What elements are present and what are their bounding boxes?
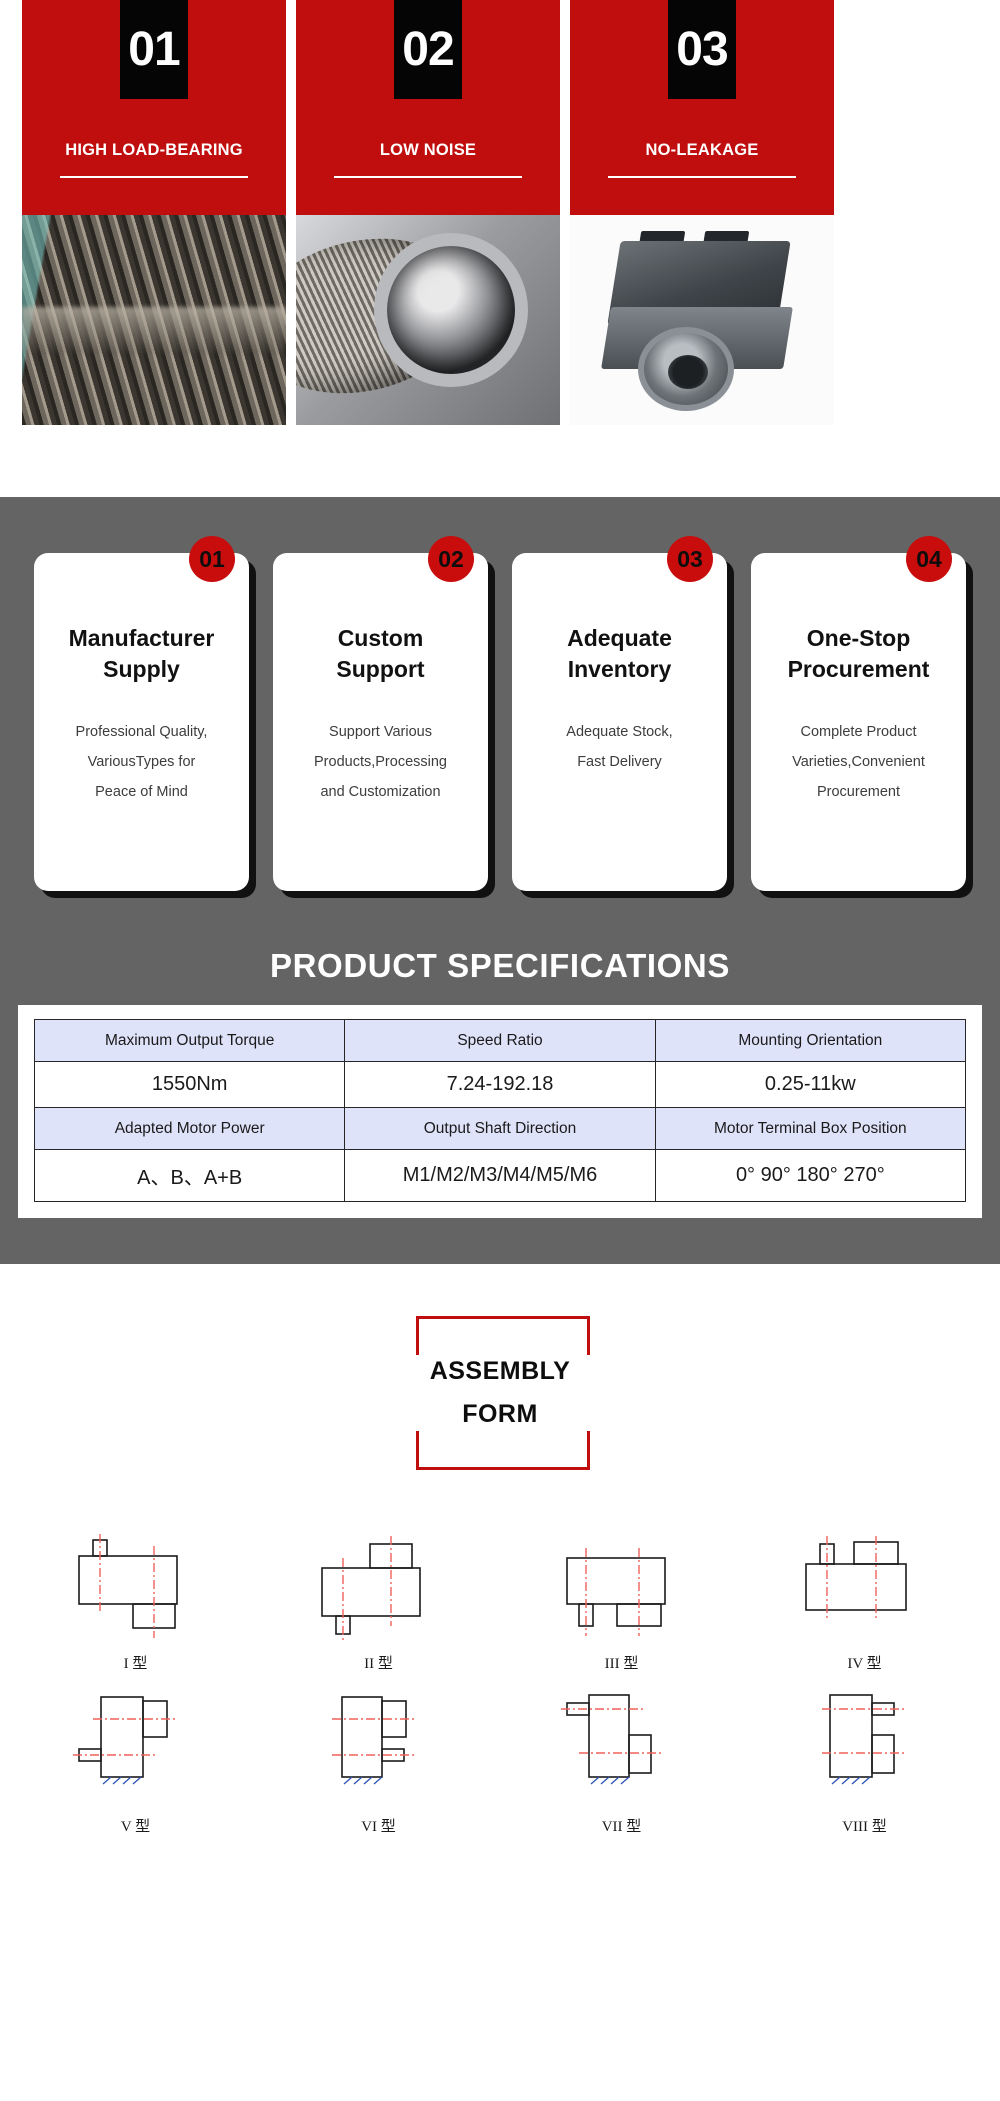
helical-gear-shafts-photo bbox=[22, 215, 286, 425]
table-value-cell: M1/M2/M3/M4/M5/M6 bbox=[345, 1150, 655, 1202]
assembly-form-8-drawing bbox=[780, 1691, 950, 1811]
table-row: A、B、A+B M1/M2/M3/M4/M5/M6 0° 90° 180° 27… bbox=[35, 1150, 966, 1202]
assembly-form-4: IV 型 bbox=[743, 1528, 986, 1673]
assembly-form-3: III 型 bbox=[500, 1528, 743, 1673]
advantage-badge: 04 bbox=[906, 536, 952, 582]
feature-banner-header: 01 HIGH LOAD-BEARING bbox=[22, 0, 286, 215]
assembly-heading-line-2: FORM bbox=[416, 1393, 584, 1436]
advantage-description: Professional Quality, VariousTypes for P… bbox=[50, 718, 233, 807]
assembly-form-label: I 型 bbox=[124, 1652, 148, 1673]
gearbox-hub bbox=[668, 355, 708, 389]
assembly-form-section: ASSEMBLY FORM I 型 bbox=[0, 1264, 1000, 1866]
feature-banner-number: 03 bbox=[668, 0, 736, 99]
divider-rule bbox=[334, 176, 522, 178]
gearbox-unit-photo bbox=[570, 215, 834, 425]
table-value-cell: 7.24-192.18 bbox=[345, 1062, 655, 1108]
specifications-heading: PRODUCT SPECIFICATIONS bbox=[0, 947, 1000, 985]
ground-hatch-icon bbox=[103, 1777, 141, 1784]
assembly-form-label: V 型 bbox=[121, 1815, 150, 1836]
feature-banner: 01 HIGH LOAD-BEARING bbox=[22, 0, 286, 425]
feature-banner-header: 03 NO-LEAKAGE bbox=[570, 0, 834, 215]
advantage-badge: 01 bbox=[189, 536, 235, 582]
advantage-title: One-Stop Procurement bbox=[767, 623, 950, 684]
assembly-form-3-drawing bbox=[537, 1528, 707, 1648]
assembly-form-heading-badge: ASSEMBLY FORM bbox=[416, 1316, 584, 1470]
feature-banner-title: NO-LEAKAGE bbox=[646, 141, 759, 160]
advantage-title: Custom Support bbox=[289, 623, 472, 684]
divider-rule bbox=[60, 176, 248, 178]
table-value-cell: 0.25-11kw bbox=[655, 1062, 965, 1108]
assembly-form-label: III 型 bbox=[605, 1652, 639, 1673]
assembly-form-2-drawing bbox=[294, 1528, 464, 1648]
assembly-form-6-drawing bbox=[294, 1691, 464, 1811]
assembly-diagram-grid: I 型 II 型 bbox=[0, 1528, 1000, 1836]
table-value-cell: 0° 90° 180° 270° bbox=[655, 1150, 965, 1202]
assembly-form-4-drawing bbox=[780, 1528, 950, 1648]
advantage-badge: 02 bbox=[428, 536, 474, 582]
advantage-description: Adequate Stock, Fast Delivery bbox=[528, 718, 711, 777]
product-detail-page: 01 HIGH LOAD-BEARING 02 LOW NOISE 03 NO-… bbox=[0, 0, 1000, 1866]
divider-rule bbox=[608, 176, 796, 178]
bearing-rings-photo bbox=[296, 215, 560, 425]
specifications-table: Maximum Output Torque Speed Ratio Mounti… bbox=[34, 1019, 966, 1202]
assembly-form-7-drawing bbox=[537, 1691, 707, 1811]
advantage-title: Adequate Inventory bbox=[528, 623, 711, 684]
assembly-form-7: VII 型 bbox=[500, 1691, 743, 1836]
assembly-form-label: VII 型 bbox=[602, 1815, 642, 1836]
specifications-table-frame: Maximum Output Torque Speed Ratio Mounti… bbox=[18, 1005, 982, 1218]
assembly-form-label: VI 型 bbox=[361, 1815, 396, 1836]
ground-hatch-icon bbox=[591, 1777, 629, 1784]
feature-banner-title: HIGH LOAD-BEARING bbox=[65, 141, 243, 160]
table-header-cell: Adapted Motor Power bbox=[35, 1108, 345, 1150]
feature-banner-number: 01 bbox=[120, 0, 188, 99]
assembly-form-2: II 型 bbox=[257, 1528, 500, 1673]
advantage-card: 03 Adequate Inventory Adequate Stock, Fa… bbox=[512, 553, 727, 891]
table-header-cell: Maximum Output Torque bbox=[35, 1020, 345, 1062]
assembly-form-label: VIII 型 bbox=[842, 1815, 887, 1836]
advantage-title: Manufacturer Supply bbox=[50, 623, 233, 684]
table-header-cell: Speed Ratio bbox=[345, 1020, 655, 1062]
table-row: 1550Nm 7.24-192.18 0.25-11kw bbox=[35, 1062, 966, 1108]
table-row: Adapted Motor Power Output Shaft Directi… bbox=[35, 1108, 966, 1150]
advantage-card-row: 01 Manufacturer Supply Professional Qual… bbox=[0, 553, 1000, 891]
feature-banner-header: 02 LOW NOISE bbox=[296, 0, 560, 215]
assembly-form-1: I 型 bbox=[14, 1528, 257, 1673]
advantage-card: 02 Custom Support Support Various Produc… bbox=[273, 553, 488, 891]
assembly-form-5-drawing bbox=[51, 1691, 221, 1811]
advantage-card: 01 Manufacturer Supply Professional Qual… bbox=[34, 553, 249, 891]
table-header-cell: Motor Terminal Box Position bbox=[655, 1108, 965, 1150]
assembly-form-label: II 型 bbox=[364, 1652, 393, 1673]
assembly-form-8: VIII 型 bbox=[743, 1691, 986, 1836]
specifications-section: PRODUCT SPECIFICATIONS Maximum Output To… bbox=[0, 891, 1000, 1264]
table-value-cell: A、B、A+B bbox=[35, 1150, 345, 1202]
assembly-form-1-drawing bbox=[51, 1528, 221, 1648]
table-header-cell: Mounting Orientation bbox=[655, 1020, 965, 1062]
advantage-description: Complete Product Varieties,Convenient Pr… bbox=[767, 718, 950, 807]
table-row: Maximum Output Torque Speed Ratio Mounti… bbox=[35, 1020, 966, 1062]
feature-banner: 02 LOW NOISE bbox=[296, 0, 560, 425]
feature-banner-number: 02 bbox=[394, 0, 462, 99]
table-value-cell: 1550Nm bbox=[35, 1062, 345, 1108]
assembly-form-label: IV 型 bbox=[847, 1652, 881, 1673]
assembly-form-5: V 型 bbox=[14, 1691, 257, 1836]
ground-hatch-icon bbox=[344, 1777, 382, 1784]
advantage-card: 04 One-Stop Procurement Complete Product… bbox=[751, 553, 966, 891]
ground-hatch-icon bbox=[832, 1777, 870, 1784]
advantage-badge: 03 bbox=[667, 536, 713, 582]
feature-banner-title: LOW NOISE bbox=[380, 141, 476, 160]
advantage-description: Support Various Products,Processing and … bbox=[289, 718, 472, 807]
feature-banner-section: 01 HIGH LOAD-BEARING 02 LOW NOISE 03 NO-… bbox=[0, 0, 1000, 497]
assembly-form-6: VI 型 bbox=[257, 1691, 500, 1836]
assembly-heading-line-1: ASSEMBLY bbox=[416, 1350, 584, 1393]
table-header-cell: Output Shaft Direction bbox=[345, 1108, 655, 1150]
feature-banner: 03 NO-LEAKAGE bbox=[570, 0, 834, 425]
advantages-section: 01 Manufacturer Supply Professional Qual… bbox=[0, 497, 1000, 1264]
